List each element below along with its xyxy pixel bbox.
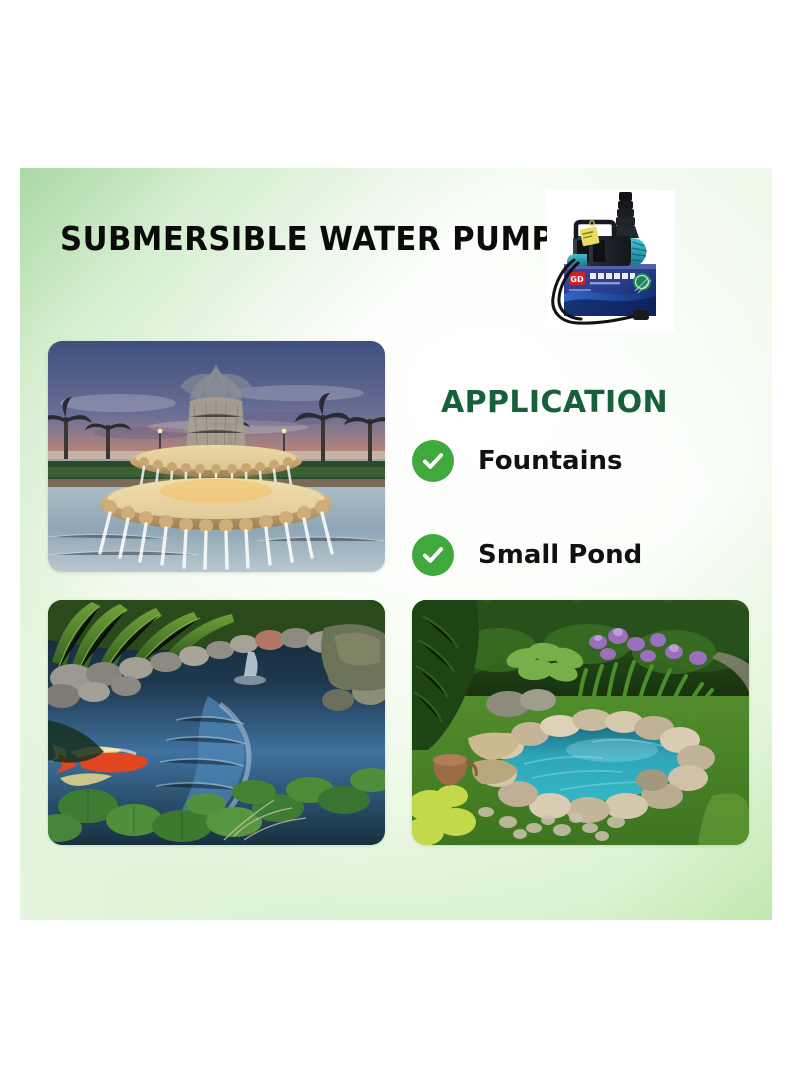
page-title: SUBMERSIBLE WATER PUMP	[60, 222, 554, 255]
application-item-small-pond: Small Pond	[412, 534, 642, 576]
koi-pond-photo	[48, 600, 385, 845]
cord-plug	[633, 310, 649, 320]
product-box: GD	[564, 264, 656, 316]
fountain-photo	[48, 341, 385, 572]
garden-pond-photo	[412, 600, 749, 845]
application-heading: APPLICATION	[441, 385, 668, 420]
application-item-label: Fountains	[478, 446, 622, 476]
application-item-fountains: Fountains	[412, 440, 622, 482]
check-circle-icon	[412, 440, 454, 482]
product-image: GD	[547, 190, 675, 332]
check-circle-icon	[412, 534, 454, 576]
application-item-label: Small Pond	[478, 540, 642, 570]
svg-text:GD: GD	[570, 275, 584, 284]
